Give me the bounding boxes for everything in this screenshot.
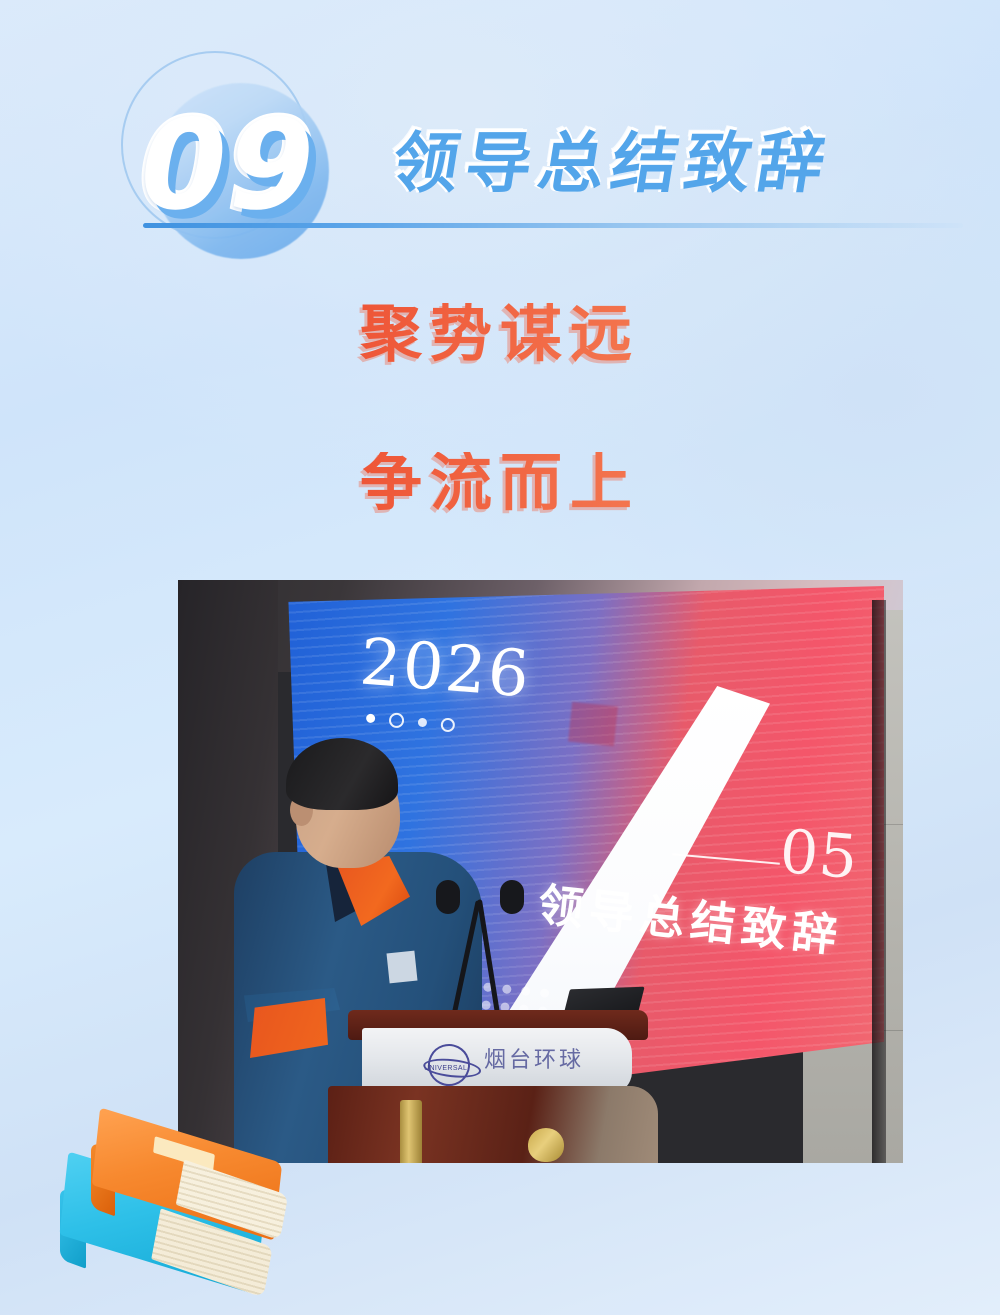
podium-gold-ornament — [528, 1128, 564, 1162]
podium-front-panel: UNIVERSAL 烟台环球 — [362, 1028, 632, 1094]
microphone-head — [500, 880, 524, 914]
slogan-line-1: 聚势谋远 — [0, 303, 1000, 365]
section-number-badge: 09 — [129, 104, 327, 228]
podium-brand-en: UNIVERSAL — [424, 1065, 467, 1072]
podium-organization-text: 烟台环球 — [484, 1042, 584, 1074]
stacked-books-icon — [60, 1118, 310, 1308]
title-divider — [143, 223, 963, 228]
podium-body — [328, 1086, 658, 1163]
section-number-text: 09 — [127, 94, 329, 238]
screen-dot — [388, 712, 404, 728]
screen-grid-dot — [502, 984, 512, 994]
page-title: 领导总结致辞 — [388, 131, 836, 197]
poster-root: 09 领导总结致辞 聚势谋远 争流而上 2026 05 领导总结致辞 — [0, 0, 1000, 1315]
podium-gold-column — [400, 1100, 422, 1163]
screen-dot — [418, 718, 428, 728]
screen-dot — [366, 714, 376, 724]
photo-wall-edge — [872, 600, 886, 1163]
speaker-name-badge — [387, 951, 418, 984]
header-section: 09 领导总结致辞 — [0, 0, 1000, 270]
screen-grid-dot — [521, 986, 531, 996]
speaker-photo: 2026 05 领导总结致辞 — [178, 580, 903, 1163]
slogan-line-2: 争流而上 — [0, 452, 1000, 514]
screen-artifact — [568, 702, 618, 747]
screen-year-text: 2026 — [357, 625, 533, 712]
screen-dot — [440, 717, 455, 732]
screen-grid-dot — [481, 1000, 491, 1010]
microphone-head — [436, 880, 460, 914]
screen-grid-dot — [540, 988, 550, 998]
screen-section-number: 05 — [777, 817, 861, 894]
